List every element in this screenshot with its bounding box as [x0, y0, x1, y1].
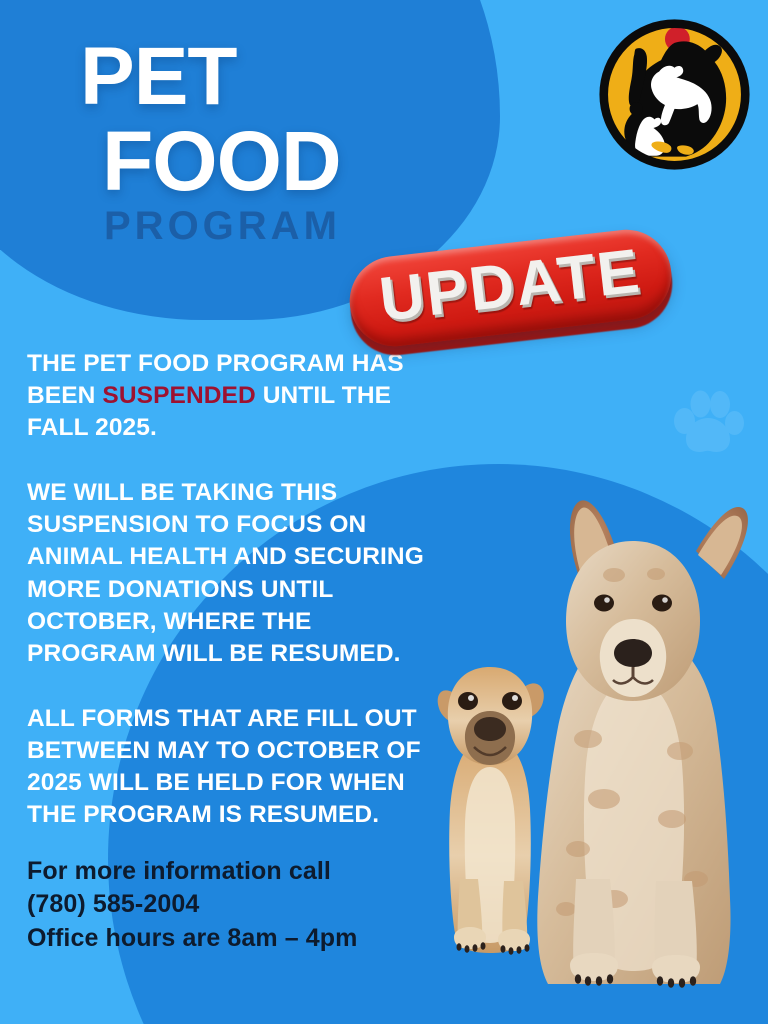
poster-canvas: PET FOOD PROGRAM UPDATE THE PET FOOD PRO… [0, 0, 768, 1024]
title-line-pet: PET [80, 38, 341, 116]
notice-highlight-suspended: SUSPENDED [102, 382, 255, 409]
large-dog [537, 500, 748, 987]
two-dogs-photo [428, 479, 768, 1024]
animal-rescue-logo-icon [598, 18, 751, 171]
poster-body-text: THE PET FOOD PROGRAM HAS BEEN SUSPENDED … [27, 348, 447, 831]
small-dog [438, 667, 544, 955]
contact-phone-number[interactable]: (780) 585-2004 [27, 888, 358, 921]
poster-title-block: PET FOOD PROGRAM [80, 38, 341, 249]
paragraph-reason: WE WILL BE TAKING THIS SUSPENSION TO FOC… [27, 477, 447, 670]
contact-block: For more information call (780) 585-2004… [27, 855, 358, 955]
contact-line-intro: For more information call [27, 855, 358, 888]
paragraph-forms-policy: ALL FORMS THAT ARE FILL OUT BETWEEN MAY … [27, 703, 447, 831]
title-subtitle-program: PROGRAM [104, 204, 341, 249]
title-line-food: FOOD [102, 122, 341, 202]
contact-office-hours: Office hours are 8am – 4pm [27, 922, 358, 955]
paragraph-suspension-notice: THE PET FOOD PROGRAM HAS BEEN SUSPENDED … [27, 348, 447, 444]
update-badge-label: UPDATE [376, 240, 644, 331]
paw-print-icon [672, 388, 744, 458]
